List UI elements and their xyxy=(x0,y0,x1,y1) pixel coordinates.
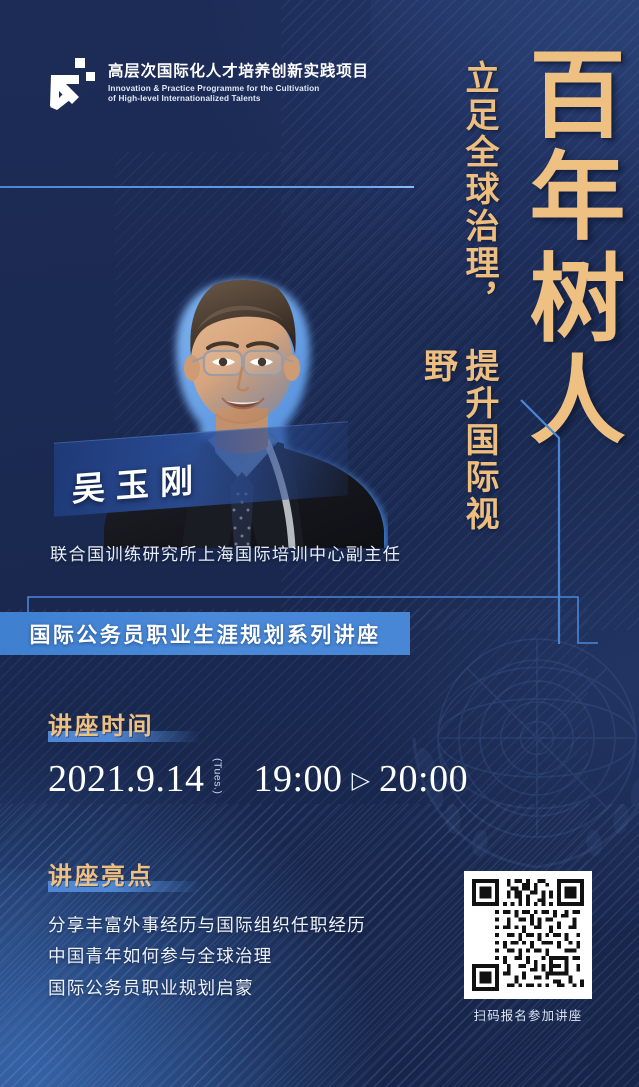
time-section-heading: 讲座时间 xyxy=(48,706,154,741)
running-person-arrow-logo-icon xyxy=(49,58,95,110)
program-name-en-line2: of High-level Internationalized Talents xyxy=(108,94,369,105)
qr-caption: 扫码报名参加讲座 xyxy=(464,1006,592,1024)
series-banner: 国际公务员职业生涯规划系列讲座 xyxy=(0,612,410,655)
lecture-date: 2021.9.14 xyxy=(48,760,205,798)
program-name-cn: 高层次国际化人才培养创新实践项目 xyxy=(108,63,369,81)
program-header: 高层次国际化人才培养创新实践项目 Innovation & Practice P… xyxy=(49,58,369,110)
poster-subtitle-line2: 提升国际视野 xyxy=(416,348,499,563)
lecture-start-time: 19:00 xyxy=(254,760,343,798)
lecture-end-time: 20:00 xyxy=(379,760,468,798)
list-item: 国际公务员职业规划启蒙 xyxy=(48,973,366,1004)
list-item: 分享丰富外事经历与国际组织任职经历 xyxy=(48,910,366,941)
poster-subtitle-line1: 立足全球治理， xyxy=(458,60,499,390)
lecture-poster: 高层次国际化人才培养创新实践项目 Innovation & Practice P… xyxy=(0,0,639,1087)
program-name-en-line1: Innovation & Practice Programme for the … xyxy=(108,84,369,95)
qr-code[interactable] xyxy=(464,871,592,999)
poster-main-title: 百年树人 xyxy=(509,44,617,452)
lecture-datetime: 2021.9.14 (Tues.) 19:00 ▷ 20:00 xyxy=(48,758,468,798)
highlights-list: 分享丰富外事经历与国际组织任职经历 中国青年如何参与全球治理 国际公务员职业规划… xyxy=(48,910,366,1004)
time-range-arrow-icon: ▷ xyxy=(352,769,370,793)
header-divider-line xyxy=(0,186,414,188)
series-banner-label: 国际公务员职业生涯规划系列讲座 xyxy=(30,619,381,649)
highlights-section-heading: 讲座亮点 xyxy=(48,856,154,891)
lecture-weekday: (Tues.) xyxy=(212,758,224,794)
speaker-role: 联合国训练研究所上海国际培训中心副主任 xyxy=(50,540,401,565)
speaker-name: 吴玉刚 xyxy=(72,453,204,511)
list-item: 中国青年如何参与全球治理 xyxy=(48,941,366,972)
qr-code-icon xyxy=(472,879,584,991)
highlights-heading-text: 讲座亮点 xyxy=(48,864,154,890)
time-heading-text: 讲座时间 xyxy=(48,714,154,740)
